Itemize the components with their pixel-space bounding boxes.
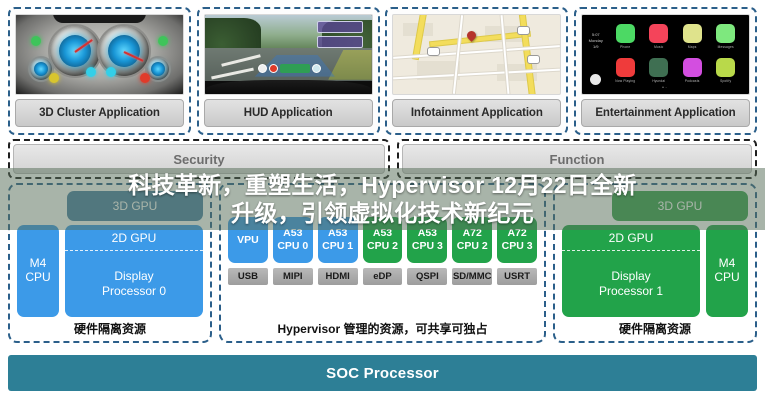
interface-row: USB MIPI HDMI eDP QSPI SD/MMC USRT — [228, 268, 537, 285]
isolated-caption-left: 硬件隔离资源 — [17, 317, 203, 337]
application-card-hud[interactable]: HUD Application — [197, 7, 380, 135]
block-display-stack-left: 2D GPU Display Processor 0 — [65, 225, 203, 317]
display-line2: Processor 0 — [102, 284, 166, 299]
m4-cpu-line2: CPU — [714, 271, 739, 285]
interface-hdmi: HDMI — [318, 268, 358, 285]
display-line1: Display — [114, 269, 153, 284]
navigation-map-thumbnail — [392, 14, 561, 95]
interface-mipi: MIPI — [273, 268, 313, 285]
carplay-home-button — [590, 74, 601, 85]
carplay-app-grid: Phone Music Maps Messages Now Playing Hy… — [612, 24, 739, 86]
carplay-app-icon: Maps — [679, 24, 705, 52]
interface-sdmmc: SD/MMC — [452, 268, 492, 285]
head-up-display-thumbnail — [204, 14, 373, 95]
application-label: Entertainment Application — [581, 99, 750, 127]
block-display-processor-right: Display Processor 1 — [562, 251, 700, 317]
block-display-stack-right: 2D GPU Display Processor 1 — [562, 225, 700, 317]
hypervisor-architecture-diagram: 3D Cluster Application — [0, 0, 765, 400]
interface-usrt: USRT — [497, 268, 537, 285]
instrument-cluster-thumbnail — [15, 14, 184, 95]
hypervisor-caption: Hypervisor 管理的资源，可共享可独占 — [228, 317, 537, 337]
application-label: 3D Cluster Application — [15, 99, 184, 127]
m4-cpu-line1: M4 — [30, 257, 47, 271]
display-line1: Display — [611, 269, 650, 284]
headline-line-2: 升级，引领虚拟化技术新纪元 — [231, 199, 534, 227]
application-card-3d-cluster[interactable]: 3D Cluster Application — [8, 7, 191, 135]
m4-cpu-line2: CPU — [25, 271, 50, 285]
block-m4-cpu-right: M4 CPU — [706, 225, 748, 317]
carplay-app-icon: Spotify — [712, 58, 738, 86]
headline-line-1: 科技革新，重塑生活，Hypervisor 12月22日全新 — [128, 171, 636, 199]
interface-qspi: QSPI — [407, 268, 447, 285]
block-display-processor-left: Display Processor 0 — [65, 251, 203, 317]
application-label: Infotainment Application — [392, 99, 561, 127]
carplay-app-icon: Hyundai — [646, 58, 672, 86]
application-card-infotainment[interactable]: Infotainment Application — [385, 7, 568, 135]
interface-usb: USB — [228, 268, 268, 285]
carplay-app-icon: Podcasts — [679, 58, 705, 86]
carplay-app-icon: Phone — [612, 24, 638, 52]
carplay-app-icon: Music — [646, 24, 672, 52]
interface-edp: eDP — [363, 268, 403, 285]
carplay-home-thumbnail: 5:07 Monday 1/9 Phone Music Maps Message… — [581, 14, 750, 95]
isolated-caption-right: 硬件隔离资源 — [562, 317, 748, 337]
carplay-app-icon: Now Playing — [612, 58, 638, 86]
application-label: HUD Application — [204, 99, 373, 127]
m4-cpu-line1: M4 — [719, 257, 736, 271]
application-card-row: 3D Cluster Application — [8, 7, 757, 135]
display-line2: Processor 1 — [599, 284, 663, 299]
carplay-status: 5:07 Monday 1/9 — [589, 32, 603, 50]
application-card-entertainment[interactable]: 5:07 Monday 1/9 Phone Music Maps Message… — [574, 7, 757, 135]
page-dots: • · — [662, 85, 667, 91]
soc-processor-bar: SOC Processor — [8, 355, 757, 391]
carplay-app-icon: Messages — [712, 24, 738, 52]
block-m4-cpu-left: M4 CPU — [17, 225, 59, 317]
headline-overlay: 科技革新，重塑生活，Hypervisor 12月22日全新 升级，引领虚拟化技术… — [0, 168, 765, 230]
